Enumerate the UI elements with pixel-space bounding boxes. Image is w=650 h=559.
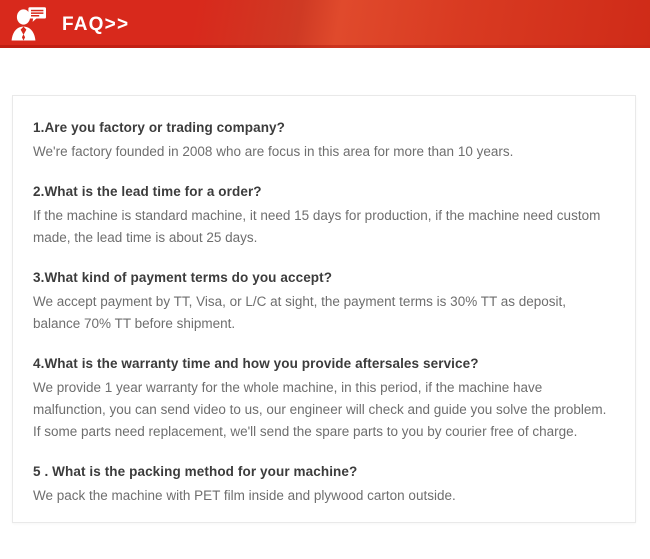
- faq-answer: We provide 1 year warranty for the whole…: [33, 377, 608, 443]
- faq-item: 3.What kind of payment terms do you acce…: [33, 268, 615, 335]
- faq-item: 2.What is the lead time for a order? If …: [33, 182, 615, 249]
- faq-question: 2.What is the lead time for a order?: [33, 182, 615, 202]
- faq-header-title: FAQ>>: [62, 15, 129, 34]
- faq-card: 1.Are you factory or trading company? We…: [12, 95, 636, 523]
- faq-question: 3.What kind of payment terms do you acce…: [33, 268, 615, 288]
- faq-answer: We pack the machine with PET film inside…: [33, 485, 608, 507]
- faq-item: 4.What is the warranty time and how you …: [33, 354, 615, 443]
- faq-answer: We're factory founded in 2008 who are fo…: [33, 141, 608, 163]
- faq-question: 5 . What is the packing method for your …: [33, 462, 615, 482]
- faq-answer: If the machine is standard machine, it n…: [33, 205, 608, 249]
- faq-item: 1.Are you factory or trading company? We…: [33, 118, 615, 163]
- faq-header-banner: FAQ>>: [0, 0, 650, 48]
- faq-question: 4.What is the warranty time and how you …: [33, 354, 615, 374]
- faq-question: 1.Are you factory or trading company?: [33, 118, 615, 138]
- faq-answer: We accept payment by TT, Visa, or L/C at…: [33, 291, 608, 335]
- person-speech-bubble-icon: [8, 4, 48, 44]
- faq-item: 5 . What is the packing method for your …: [33, 462, 615, 507]
- faq-list: 1.Are you factory or trading company? We…: [13, 96, 635, 527]
